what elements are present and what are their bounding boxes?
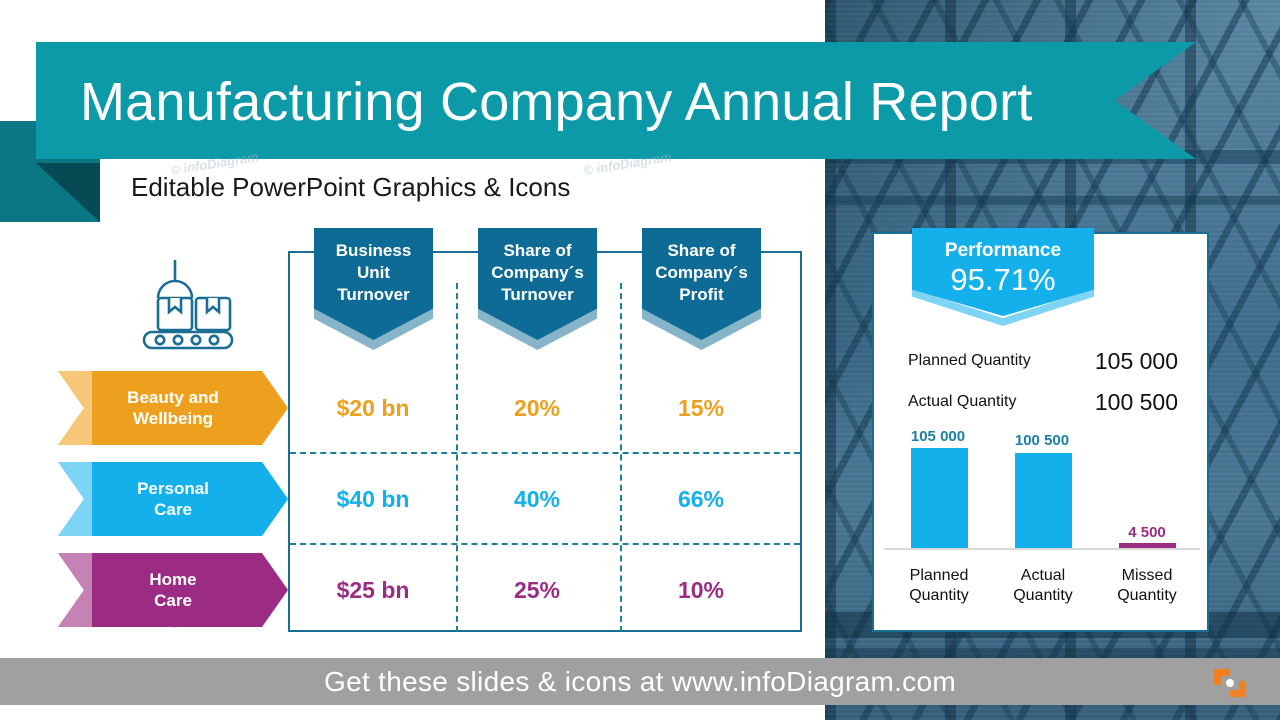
table-cell: $40 bn (303, 486, 443, 513)
column-header-line: Turnover (336, 284, 412, 306)
infodiagram-logo-icon[interactable] (1210, 665, 1250, 701)
performance-label: Performance (912, 240, 1094, 262)
slide-canvas: Manufacturing Company Annual Report Edit… (0, 0, 1280, 720)
row-label-beauty-and-wellbeing[interactable]: Beauty and Wellbeing (58, 371, 288, 445)
x-tick-line: Planned (884, 566, 994, 586)
row-label-line: Care (154, 590, 192, 611)
bar-value-label: 105 000 (883, 428, 993, 445)
actual-quantity-value: 100 500 (1058, 389, 1178, 416)
x-tick-line: Missed (1092, 566, 1202, 586)
table-cell: $20 bn (303, 395, 443, 422)
table-column-divider (620, 283, 622, 632)
chart-x-tick-missed: Missed Quantity (1092, 566, 1202, 606)
row-label-line: Wellbeing (133, 408, 213, 429)
table-row-divider (290, 543, 800, 545)
footer-text: Get these slides & icons at www.infoDiag… (0, 658, 1280, 705)
row-label-line: Beauty and (127, 387, 219, 408)
column-header-line: Share of (491, 240, 584, 262)
planned-quantity-value: 105 000 (1058, 348, 1178, 375)
table-cell: 15% (631, 395, 771, 422)
bar-actual-quantity[interactable] (1015, 453, 1072, 548)
column-header-line: Unit (336, 262, 412, 284)
column-header-line: Share of (655, 240, 748, 262)
planned-quantity-label: Planned Quantity (908, 352, 1031, 370)
conveyor-belt-boxes-icon (138, 258, 238, 350)
performance-value: 95.71% (912, 262, 1094, 298)
row-label-line: Care (154, 499, 192, 520)
x-tick-line: Quantity (884, 586, 994, 606)
chart-x-tick-planned: Planned Quantity (884, 566, 994, 606)
row-label-line: Home (149, 569, 196, 590)
column-header-line: Company´s (491, 262, 584, 284)
chart-baseline (884, 548, 1200, 550)
x-tick-line: Actual (988, 566, 1098, 586)
column-header-line: Turnover (491, 284, 584, 306)
row-label-personal-care[interactable]: Personal Care (58, 462, 288, 536)
table-cell: $25 bn (303, 577, 443, 604)
x-tick-line: Quantity (1092, 586, 1202, 606)
page-title: Manufacturing Company Annual Report (80, 58, 1110, 146)
bar-value-label: 4 500 (1092, 524, 1202, 541)
photo-beam-2 (825, 196, 1280, 205)
actual-quantity-label: Actual Quantity (908, 393, 1017, 411)
bar-value-label: 100 500 (987, 432, 1097, 449)
chart-x-tick-actual: Actual Quantity (988, 566, 1098, 606)
table-row-divider (290, 452, 800, 454)
bar-planned-quantity[interactable] (911, 448, 968, 548)
bar-missed-quantity[interactable] (1119, 543, 1176, 548)
x-tick-line: Quantity (988, 586, 1098, 606)
table-cell: 20% (467, 395, 607, 422)
row-label-line: Personal (137, 478, 209, 499)
photo-beam-4 (825, 648, 1280, 658)
subtitle: Editable PowerPoint Graphics & Icons (131, 172, 570, 203)
table-cell: 66% (631, 486, 771, 513)
table-cell: 10% (631, 577, 771, 604)
column-header-line: Company´s (655, 262, 748, 284)
table-cell: 40% (467, 486, 607, 513)
table-cell: 25% (467, 577, 607, 604)
table-column-divider (456, 283, 458, 632)
column-header-line: Business (336, 240, 412, 262)
column-header-line: Profit (655, 284, 748, 306)
row-label-home-care[interactable]: Home Care (58, 553, 288, 627)
